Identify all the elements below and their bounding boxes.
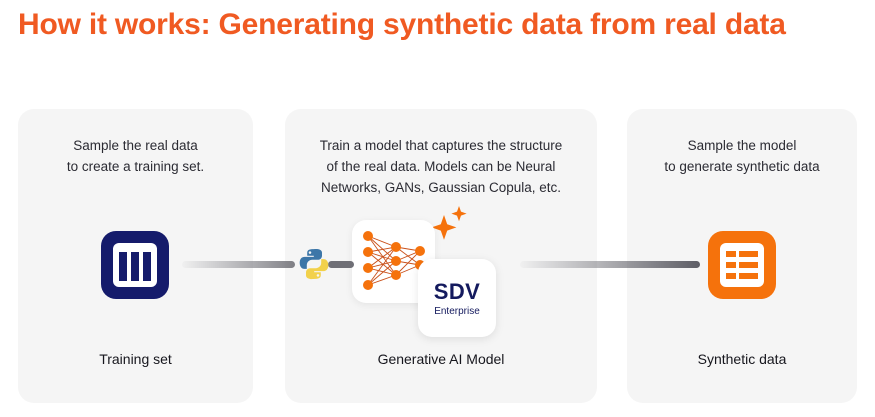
card-model-label: Generative AI Model [285,351,597,367]
card-synthetic-description: Sample the model to generate synthetic d… [627,135,857,177]
bar-chart-icon [101,231,169,299]
table-icon-cell-1-2 [739,251,758,257]
table-icon-cell-2-2 [739,262,758,268]
table-icon-cell-3-2 [739,273,758,279]
card-training-description: Sample the real data to create a trainin… [18,135,253,177]
bar-chart-icon-bar-2 [131,252,139,281]
card-model-description: Train a model that captures the structur… [285,135,597,198]
card-training-label: Training set [18,351,253,367]
sparkle-icon-large [432,215,457,240]
table-icon-cell-3-1 [726,273,736,279]
table-icon [708,231,776,299]
sdv-badge-subtitle: Enterprise [418,306,496,317]
table-icon-sheet [720,243,764,287]
card-model-description-line3: Networks, GANs, Gaussian Copula, etc. [295,177,587,198]
bar-chart-icon-sheet [113,243,157,287]
table-icon-cell-2-1 [726,262,736,268]
bar-chart-icon-bars [119,252,151,281]
sdv-badge-title: SDV [418,279,496,305]
card-model-description-line2: of the real data. Models can be Neural [295,156,587,177]
card-synthetic-description-line2: to generate synthetic data [637,156,847,177]
connector-training-to-model [182,261,295,268]
bar-chart-icon-bar-3 [143,252,151,281]
python-logo-icon [296,246,332,282]
card-synthetic-data: Sample the model to generate synthetic d… [627,109,857,403]
sparkle-icon-small [451,206,466,221]
card-synthetic-label: Synthetic data [627,351,857,367]
python-logo-icon-bottom [306,259,328,279]
bar-chart-icon-bar-1 [119,252,127,281]
python-logo-icon-top [300,249,322,269]
page-title: How it works: Generating synthetic data … [18,8,858,42]
sdv-enterprise-badge: SDV Enterprise [418,259,496,337]
card-training-set: Sample the real data to create a trainin… [18,109,253,403]
connector-model-to-synthetic [520,261,700,268]
table-icon-cell-1-1 [726,251,736,257]
card-model-description-line1: Train a model that captures the structur… [295,135,587,156]
card-synthetic-description-line1: Sample the model [637,135,847,156]
card-training-description-line2: to create a training set. [28,156,243,177]
table-icon-grid [726,251,758,280]
card-training-description-line1: Sample the real data [28,135,243,156]
